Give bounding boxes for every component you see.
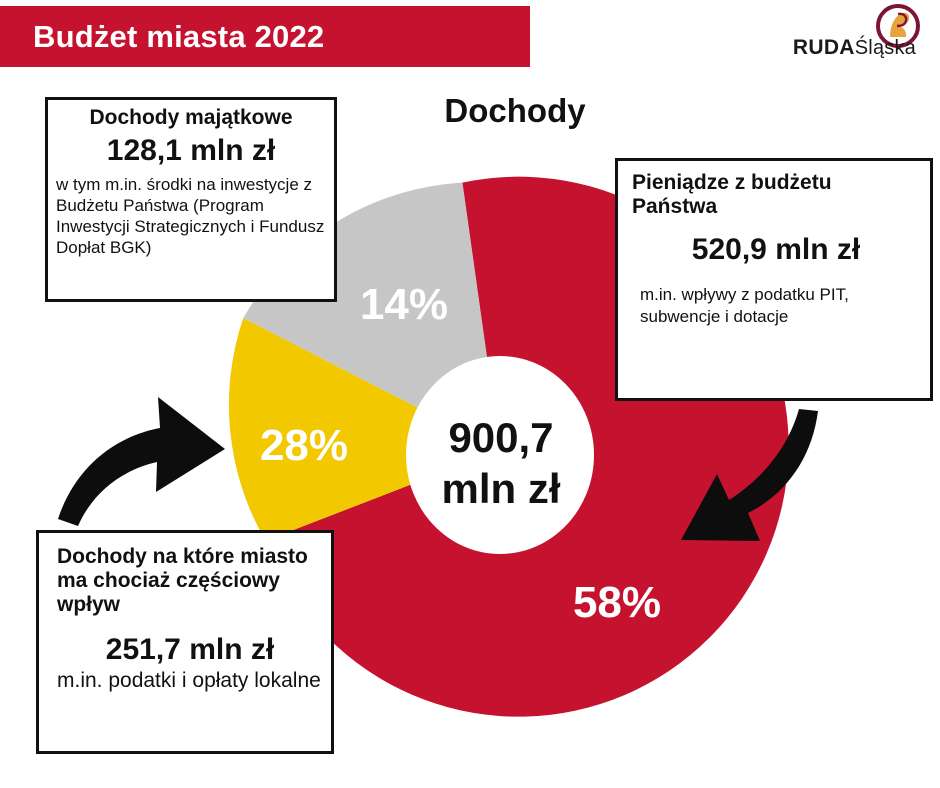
infographic-page: Budżet miasta 2022 RUDAŚląska Dochody 14…	[0, 0, 940, 788]
callout-note: m.in. wpływy z podatku PIT, subwencje i …	[632, 284, 920, 327]
callout-dochody-czesciowy-wplyw: Dochody na które miasto ma chociaż częśc…	[36, 530, 334, 754]
callout-amount: 520,9 mln zł	[632, 233, 920, 267]
callout-note: w tym m.in. środki na inwestycje z Budże…	[56, 174, 326, 259]
slice-label-wplyw: 28%	[260, 421, 348, 470]
callout-amount: 251,7 mln zł	[57, 633, 323, 667]
center-total-unit: mln zł	[441, 465, 560, 512]
callout-heading: Dochody majątkowe	[56, 106, 326, 130]
callout-heading: Dochody na które miasto ma chociaż częśc…	[57, 545, 323, 617]
callout-pieniadze-z-budzetu-panstwa: Pieniądze z budżetu Państwa 520,9 mln zł…	[615, 158, 933, 401]
callout-dochody-majatkowe: Dochody majątkowe 128,1 mln zł w tym m.i…	[45, 97, 337, 302]
slice-label-panstwo: 58%	[573, 578, 661, 627]
callout-heading: Pieniądze z budżetu Państwa	[632, 171, 920, 219]
callout-amount: 128,1 mln zł	[56, 134, 326, 168]
callout-note: m.in. podatki i opłaty lokalne	[57, 668, 323, 694]
slice-label-majatkowe: 14%	[360, 280, 448, 329]
center-total-value: 900,7	[448, 414, 553, 461]
